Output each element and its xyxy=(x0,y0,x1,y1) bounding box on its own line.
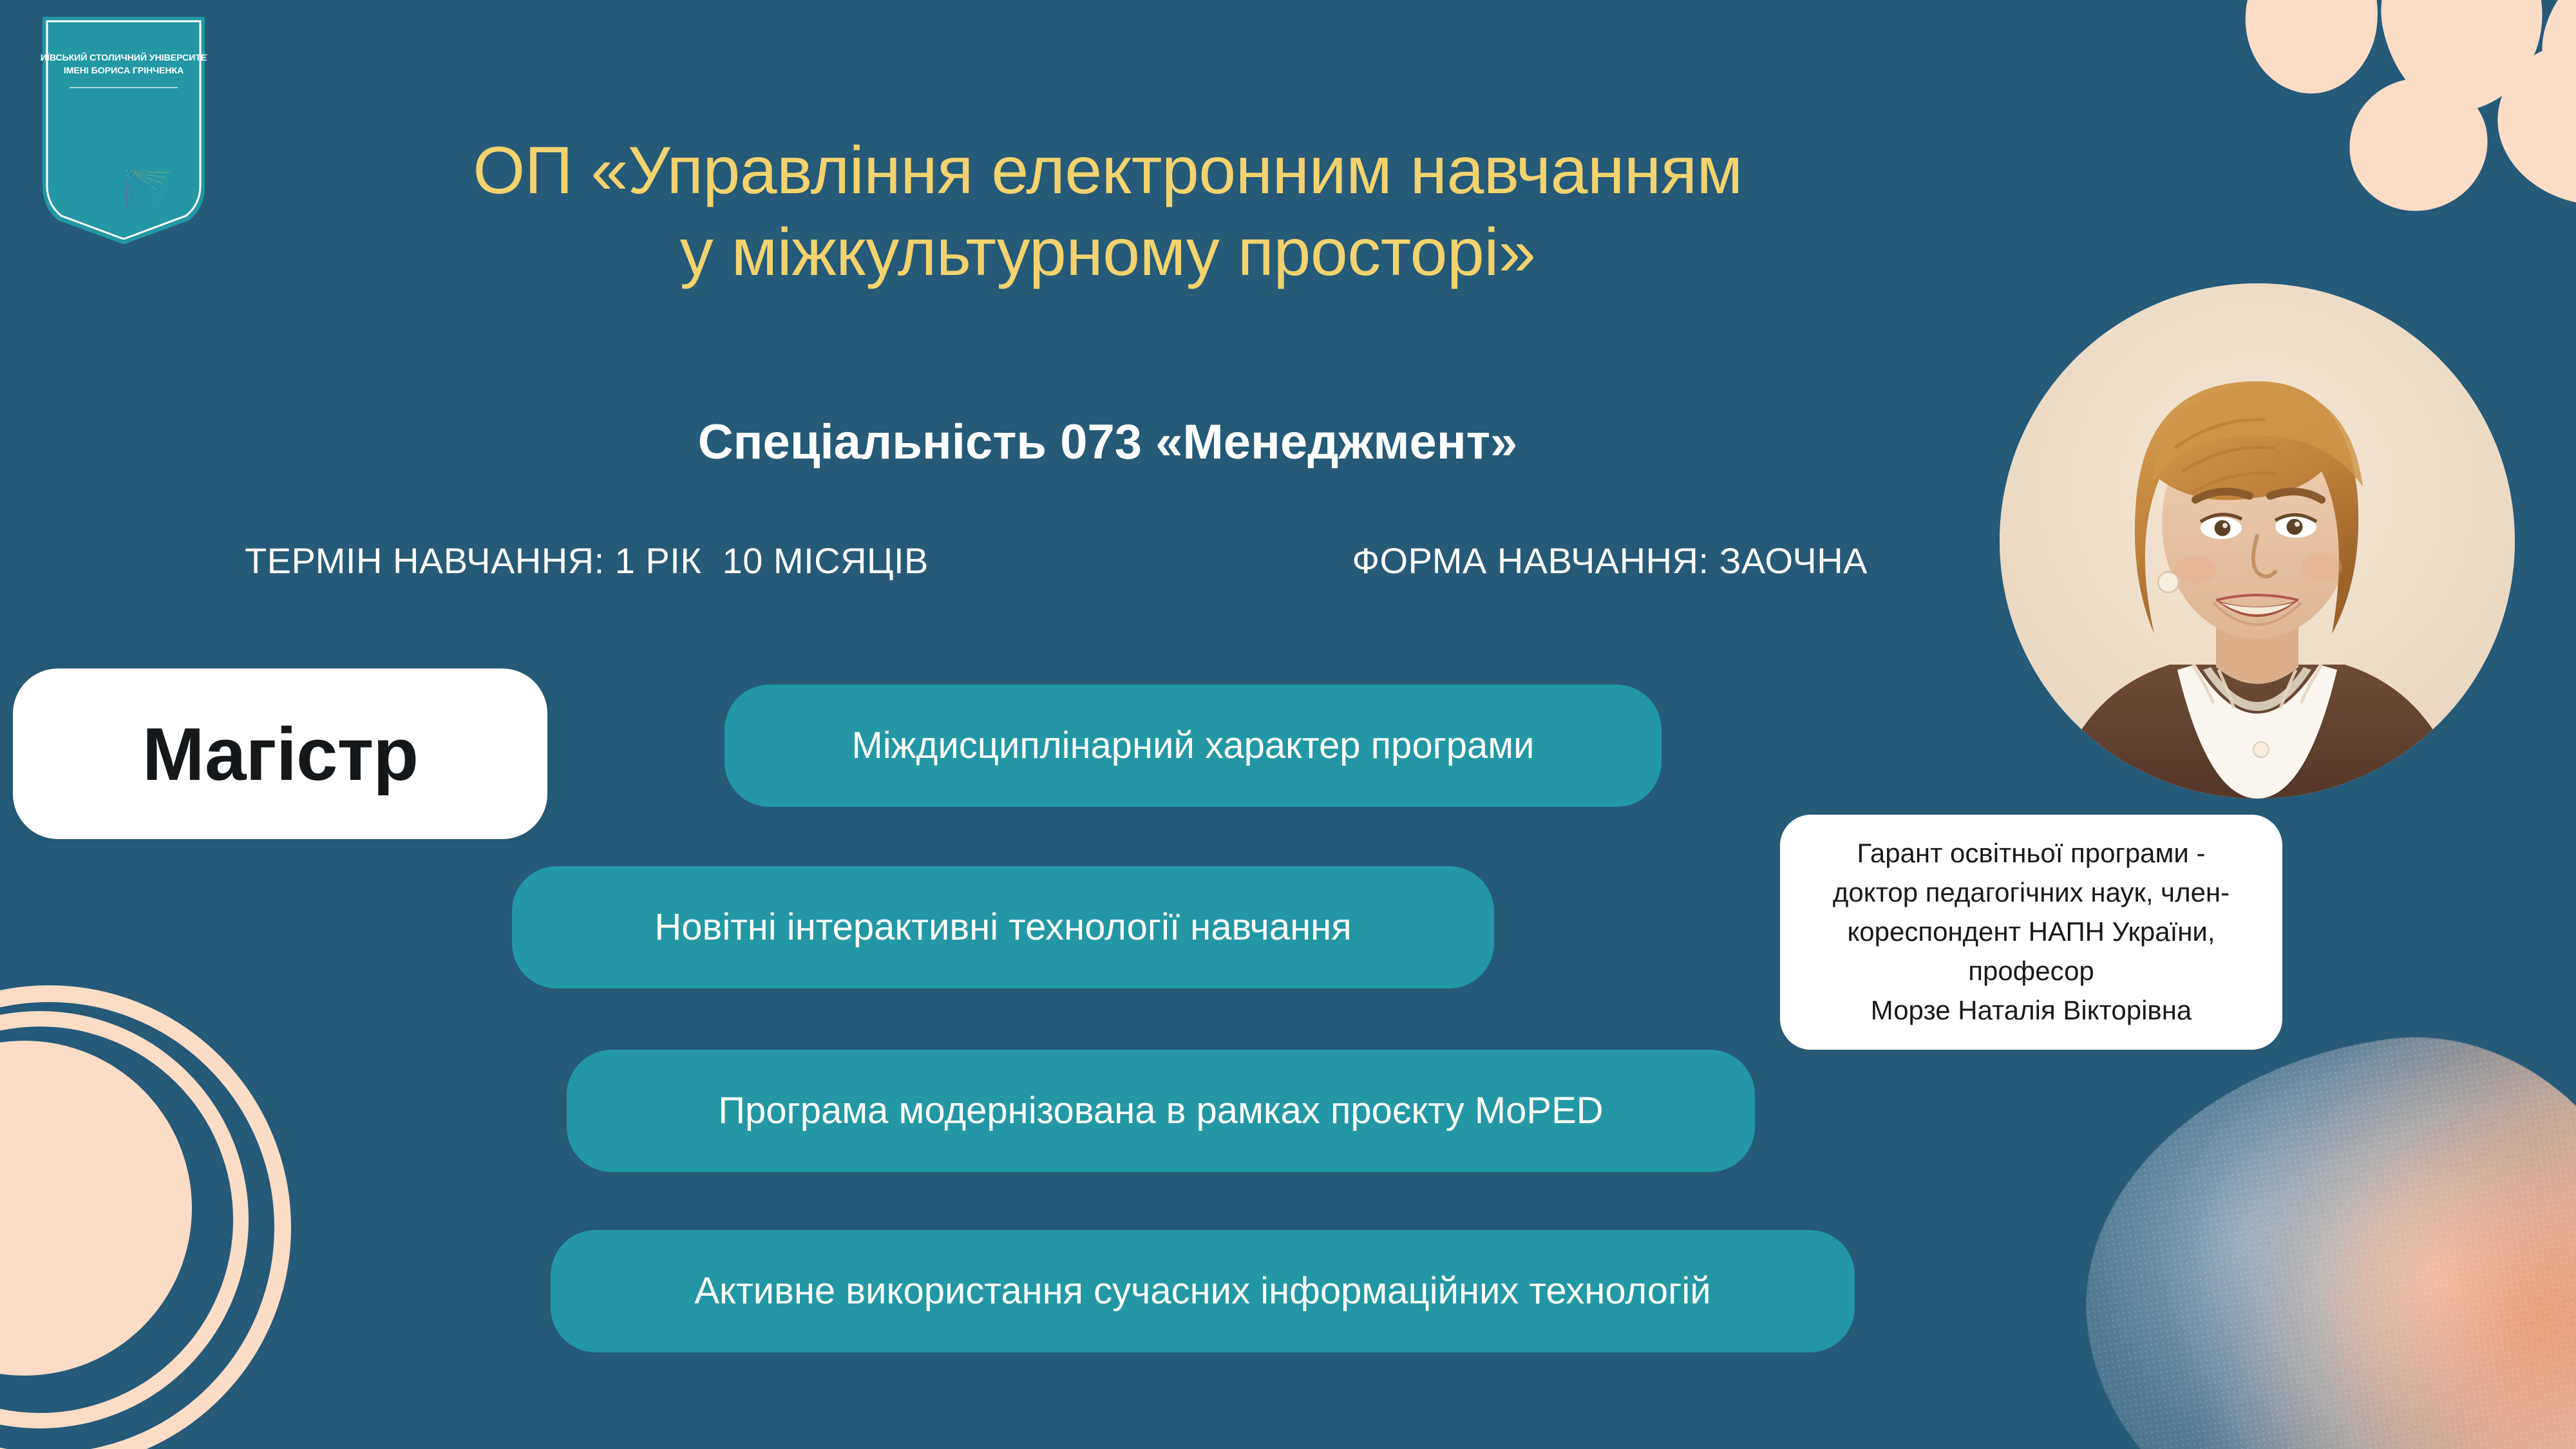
peach-blob-icon xyxy=(2526,0,2576,137)
decorative-brush-ring xyxy=(0,985,386,1449)
page-title: ОП «Управління електронним навчанням у м… xyxy=(270,130,1945,294)
specialty-subtitle: Спеціальність 073 «Менеджмент» xyxy=(270,414,1945,470)
study-meta-row: ТЕРМІН НАВЧАННЯ: 1 РІК 10 МІСЯЦІВ ФОРМА … xyxy=(245,540,1893,582)
decorative-paint-splash xyxy=(2054,1005,2576,1449)
study-duration-label: ТЕРМІН НАВЧАННЯ: 1 РІК 10 МІСЯЦІВ xyxy=(245,540,929,582)
feature-pill-label: Новітні інтерактивні технології навчання xyxy=(654,905,1351,950)
feature-pill: Програма модернізована в рамках проєкту … xyxy=(567,1050,1755,1172)
peach-blob-icon xyxy=(2485,31,2576,214)
peach-blob-icon xyxy=(2343,71,2494,217)
feature-pill: Активне використання сучасних інформацій… xyxy=(551,1230,1855,1352)
feature-pill-label: Міждисциплінарний характер програми xyxy=(851,723,1534,768)
logo-institution-line1: КИЇВСЬКИЙ СТОЛИЧНИЙ УНІВЕРСИТЕТ xyxy=(40,52,207,63)
page-title-line1: ОП «Управління електронним навчанням xyxy=(270,130,1945,212)
promo-slide: КИЇВСЬКИЙ СТОЛИЧНИЙ УНІВЕРСИТЕТ ІМЕНІ БО… xyxy=(0,0,2576,1449)
brush-ring-middle-icon xyxy=(0,1011,249,1428)
feature-pill-label: Активне використання сучасних інформацій… xyxy=(694,1269,1710,1314)
brush-ring-fill-icon xyxy=(0,1041,192,1376)
feature-pill-label: Програма модернізована в рамках проєкту … xyxy=(718,1088,1603,1133)
degree-badge: Магістр xyxy=(13,668,547,839)
study-form-label: ФОРМА НАВЧАННЯ: ЗАОЧНА xyxy=(1352,540,1868,582)
feature-pill: Новітні інтерактивні технології навчання xyxy=(512,866,1494,989)
brush-ring-outer-icon xyxy=(0,985,291,1449)
guarantor-info-card: Гарант освітньої програми - доктор педаг… xyxy=(1780,815,2282,1050)
guarantor-portrait-photo xyxy=(2000,283,2515,799)
peach-blob-icon xyxy=(2235,0,2387,102)
degree-label: Магістр xyxy=(142,711,418,797)
splash-grain-texture-icon xyxy=(2054,1005,2576,1449)
page-title-line2: у міжкультурному просторі» xyxy=(270,212,1945,294)
feature-pill: Міждисциплінарний характер програми xyxy=(724,685,1662,807)
guarantor-text: Гарант освітньої програми - доктор педаг… xyxy=(1833,834,2230,1030)
logo-institution-line2: ІМЕНІ БОРИСА ГРІНЧЕНКА xyxy=(64,66,184,76)
peach-blob-icon xyxy=(2366,0,2561,124)
university-logo: КИЇВСЬКИЙ СТОЛИЧНИЙ УНІВЕРСИТЕТ ІМЕНІ БО… xyxy=(40,14,207,246)
